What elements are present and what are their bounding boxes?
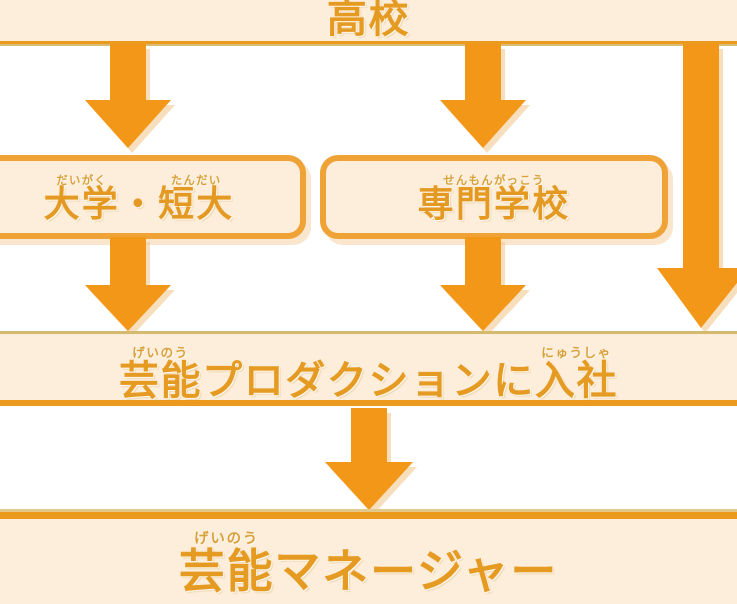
highschool-label: こうこう 高校 [0, 0, 737, 39]
university-separator: ・ [120, 187, 158, 223]
vocational-ruby-group: せんもんがっこう 専門学校 [418, 175, 571, 223]
university-base-text: 大学 [44, 187, 120, 223]
arrow-university-to-production-icon [85, 237, 171, 331]
production-label: げいのう 芸能 プロダクションに にゅうしゃ 入社 [0, 347, 737, 401]
highschool-ruby-group: こうこう 高校 [327, 0, 410, 39]
manager-geinou-base-text: 芸能 [179, 548, 275, 594]
box-university-junior-college[interactable]: だいがく 大学 ・ たんだい 短大 [0, 155, 306, 239]
arrow-vocational-to-production-icon [440, 237, 526, 331]
nyusha-base-text: 入社 [535, 361, 618, 401]
vocational-base-text: 専門学校 [418, 187, 571, 223]
box-vocational-school[interactable]: せんもんがっこう 専門学校 [320, 155, 668, 239]
manager-katakana-text: マネージャー [274, 548, 558, 594]
nyusha-ruby-group: にゅうしゃ 入社 [535, 347, 618, 401]
arrow-highschool-to-university-icon [85, 44, 171, 148]
geinou-ruby-group: げいのう 芸能 [119, 347, 202, 401]
arrow-highschool-to-production-icon [657, 44, 737, 328]
arrow-production-to-manager-icon [325, 408, 413, 510]
box-vocational-label: せんもんがっこう 専門学校 [326, 175, 662, 223]
junior-college-ruby-group: たんだい 短大 [158, 175, 234, 223]
manager-geinou-ruby-group: げいのう 芸能 [179, 532, 275, 594]
junior-college-base-text: 短大 [158, 187, 234, 223]
production-middle-text: プロダクションに [202, 361, 535, 401]
manager-label: げいのう 芸能 マネージャー [0, 532, 737, 594]
box-university-label: だいがく 大学 ・ たんだい 短大 [0, 175, 300, 223]
highschool-base-text: 高校 [327, 0, 410, 39]
flowchart-canvas: こうこう 高校 だいがく 大学 ・ たんだい 短大 [0, 0, 737, 604]
geinou-base-text: 芸能 [119, 361, 202, 401]
arrow-highschool-to-vocational-icon [440, 44, 526, 148]
university-ruby-group: だいがく 大学 [44, 175, 120, 223]
